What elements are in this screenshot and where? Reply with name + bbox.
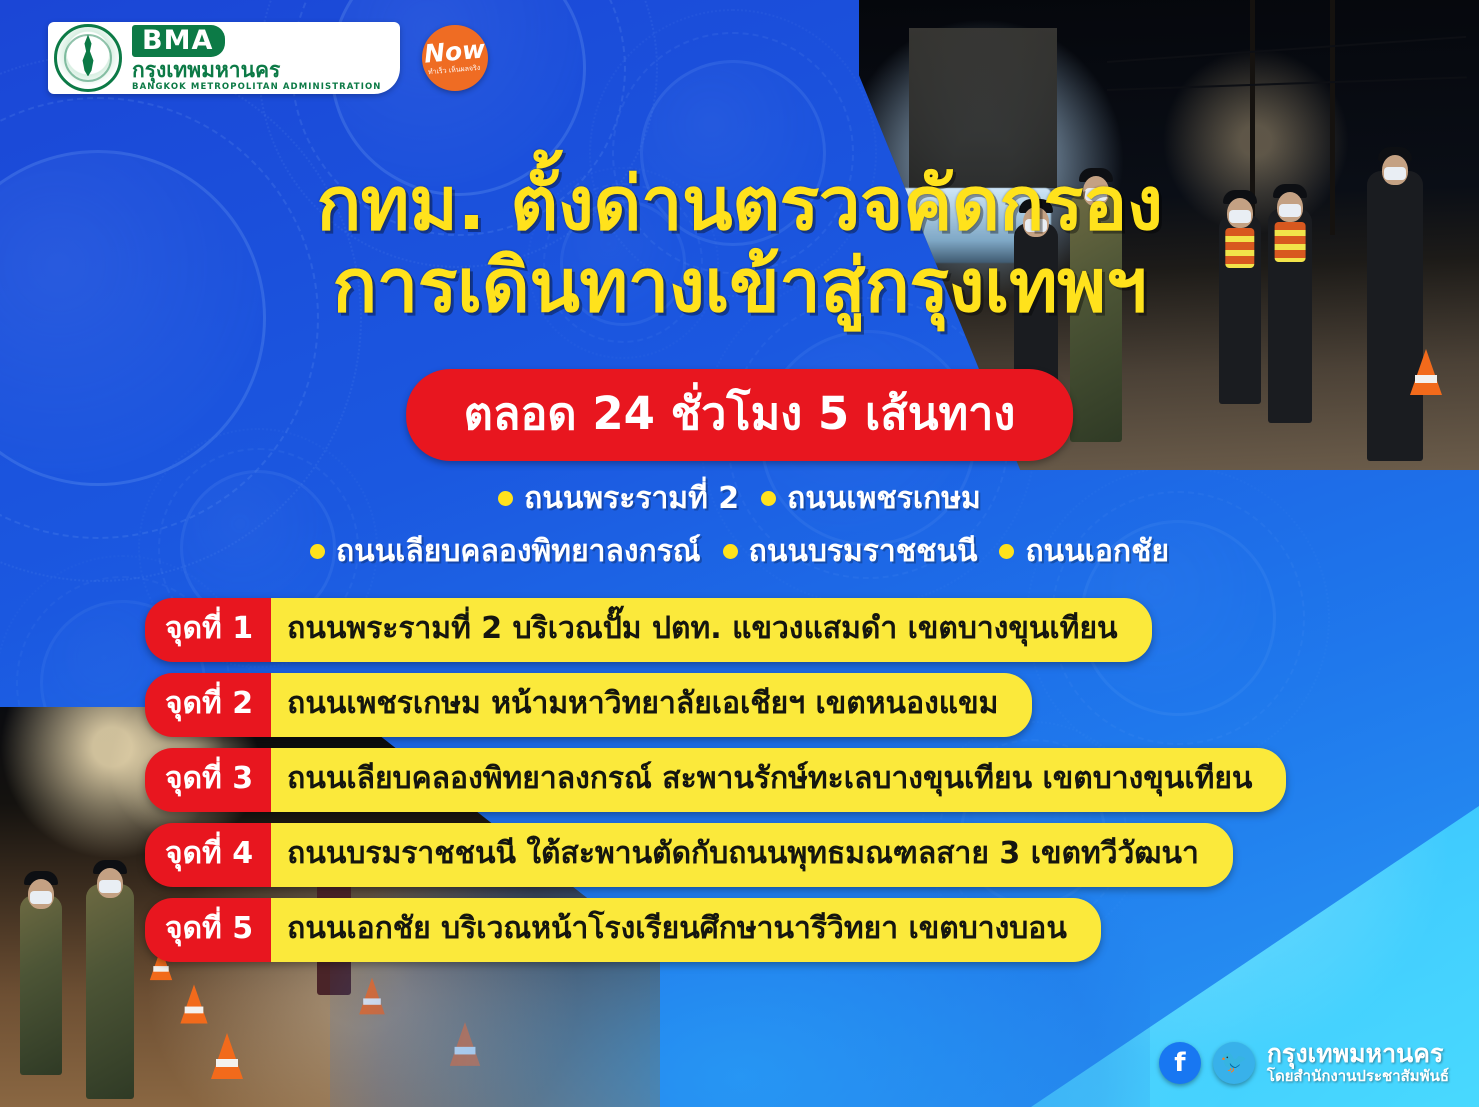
checkpoint-row: จุดที่ 4 ถนนบรมราชชนนี ใต้สะพานตัดกับถนน… [145, 823, 1286, 887]
road-item: ถนนเอกชัย [999, 528, 1169, 575]
checkpoint-location: ถนนพระรามที่ 2 บริเวณปั๊ม ปตท. แขวงแสมดำ… [271, 598, 1151, 662]
headline-line-2: การเดินทางเข้าสู่กรุงเทพฯ [0, 247, 1479, 325]
bma-seal-icon [54, 24, 122, 92]
photo-face-mask-icon [30, 891, 52, 904]
checkpoint-row: จุดที่ 1 ถนนพระรามที่ 2 บริเวณปั๊ม ปตท. … [145, 598, 1286, 662]
photo-power-line [1107, 77, 1466, 92]
checkpoint-tag: จุดที่ 4 [145, 823, 271, 887]
road-label: ถนนบรมราชชนนี [749, 528, 978, 575]
road-label: ถนนพระรามที่ 2 [524, 475, 739, 522]
footer-title: กรุงเทพมหานคร [1267, 1040, 1449, 1068]
checkpoint-tag: จุดที่ 1 [145, 598, 271, 662]
bullet-dot-icon [761, 491, 776, 506]
bma-logo-text: BMA กรุงเทพมหานคร BANGKOK METROPOLITAN A… [132, 25, 382, 92]
road-label: ถนนเลียบคลองพิทยาลงกรณ์ [336, 528, 701, 575]
hours-badge: ตลอด 24 ชั่วโมง 5 เส้นทาง [406, 369, 1074, 461]
bullet-dot-icon [723, 544, 738, 559]
road-item: ถนนพระรามที่ 2 [498, 475, 739, 522]
roads-list: ถนนพระรามที่ 2 ถนนเพชรเกษม ถนนเลียบคลองพ… [0, 475, 1479, 575]
road-item: ถนนบรมราชชนนี [723, 528, 978, 575]
road-label: ถนนเพชรเกษม [787, 475, 981, 522]
twitter-icon[interactable]: 🐦 [1213, 1042, 1255, 1084]
bullet-dot-icon [999, 544, 1014, 559]
infographic-poster: BMA กรุงเทพมหานคร BANGKOK METROPOLITAN A… [0, 0, 1479, 1107]
roads-row-2: ถนนเลียบคลองพิทยาลงกรณ์ ถนนบรมราชชนนี ถน… [0, 528, 1479, 575]
footer-text: กรุงเทพมหานคร โดยสำนักงานประชาสัมพันธ์ [1267, 1040, 1449, 1085]
road-item: ถนนเลียบคลองพิทยาลงกรณ์ [310, 528, 701, 575]
bma-thai-name: กรุงเทพมหานคร [132, 60, 382, 81]
photo-face-mask-icon [99, 880, 121, 893]
photo-officer [86, 884, 134, 1099]
photo-traffic-cone [450, 1022, 480, 1066]
checkpoint-list: จุดที่ 1 ถนนพระรามที่ 2 บริเวณปั๊ม ปตท. … [145, 598, 1286, 973]
road-item: ถนนเพชรเกษม [761, 475, 981, 522]
checkpoint-location: ถนนเพชรเกษม หน้ามหาวิทยาลัยเอเชียฯ เขตหน… [271, 673, 1032, 737]
footer: f 🐦 กรุงเทพมหานคร โดยสำนักงานประชาสัมพัน… [1159, 1040, 1449, 1085]
photo-traffic-cone [1410, 349, 1442, 395]
footer-subtitle: โดยสำนักงานประชาสัมพันธ์ [1267, 1068, 1449, 1085]
facebook-icon[interactable]: f [1159, 1042, 1201, 1084]
roads-row-1: ถนนพระรามที่ 2 ถนนเพชรเกษม [0, 475, 1479, 522]
checkpoint-tag: จุดที่ 5 [145, 898, 271, 962]
photo-power-line [1107, 36, 1466, 63]
checkpoint-location: ถนนเลียบคลองพิทยาลงกรณ์ สะพานรักษ์ทะเลบา… [271, 748, 1286, 812]
photo-officer [20, 895, 62, 1075]
headline-line-1: กทม. ตั้งด่านตรวจคัดกรอง [0, 165, 1479, 243]
bma-english-name: BANGKOK METROPOLITAN ADMINISTRATION [132, 83, 382, 92]
checkpoint-location: ถนนบรมราชชนนี ใต้สะพานตัดกับถนนพุทธมณฑลส… [271, 823, 1233, 887]
bullet-dot-icon [498, 491, 513, 506]
road-label: ถนนเอกชัย [1025, 528, 1169, 575]
checkpoint-location: ถนนเอกชัย บริเวณหน้าโรงเรียนศึกษานารีวิท… [271, 898, 1101, 962]
checkpoint-tag: จุดที่ 2 [145, 673, 271, 737]
photo-traffic-cone [181, 984, 208, 1023]
logo-bar: BMA กรุงเทพมหานคร BANGKOK METROPOLITAN A… [48, 22, 488, 94]
photo-traffic-cone [211, 1033, 243, 1079]
checkpoint-row: จุดที่ 2 ถนนเพชรเกษม หน้ามหาวิทยาลัยเอเช… [145, 673, 1286, 737]
checkpoint-row: จุดที่ 3 ถนนเลียบคลองพิทยาลงกรณ์ สะพานรั… [145, 748, 1286, 812]
now-wordmark: Now [423, 37, 486, 66]
now-logo: Now ทำเร็ว เห็นผลจริง [422, 25, 488, 91]
bullet-dot-icon [310, 544, 325, 559]
headline: กทม. ตั้งด่านตรวจคัดกรอง การเดินทางเข้าส… [0, 165, 1479, 326]
photo-traffic-cone [360, 978, 386, 1015]
checkpoint-row: จุดที่ 5 ถนนเอกชัย บริเวณหน้าโรงเรียนศึก… [145, 898, 1286, 962]
bma-abbreviation: BMA [132, 25, 225, 57]
checkpoint-tag: จุดที่ 3 [145, 748, 271, 812]
bma-logo: BMA กรุงเทพมหานคร BANGKOK METROPOLITAN A… [48, 22, 400, 94]
